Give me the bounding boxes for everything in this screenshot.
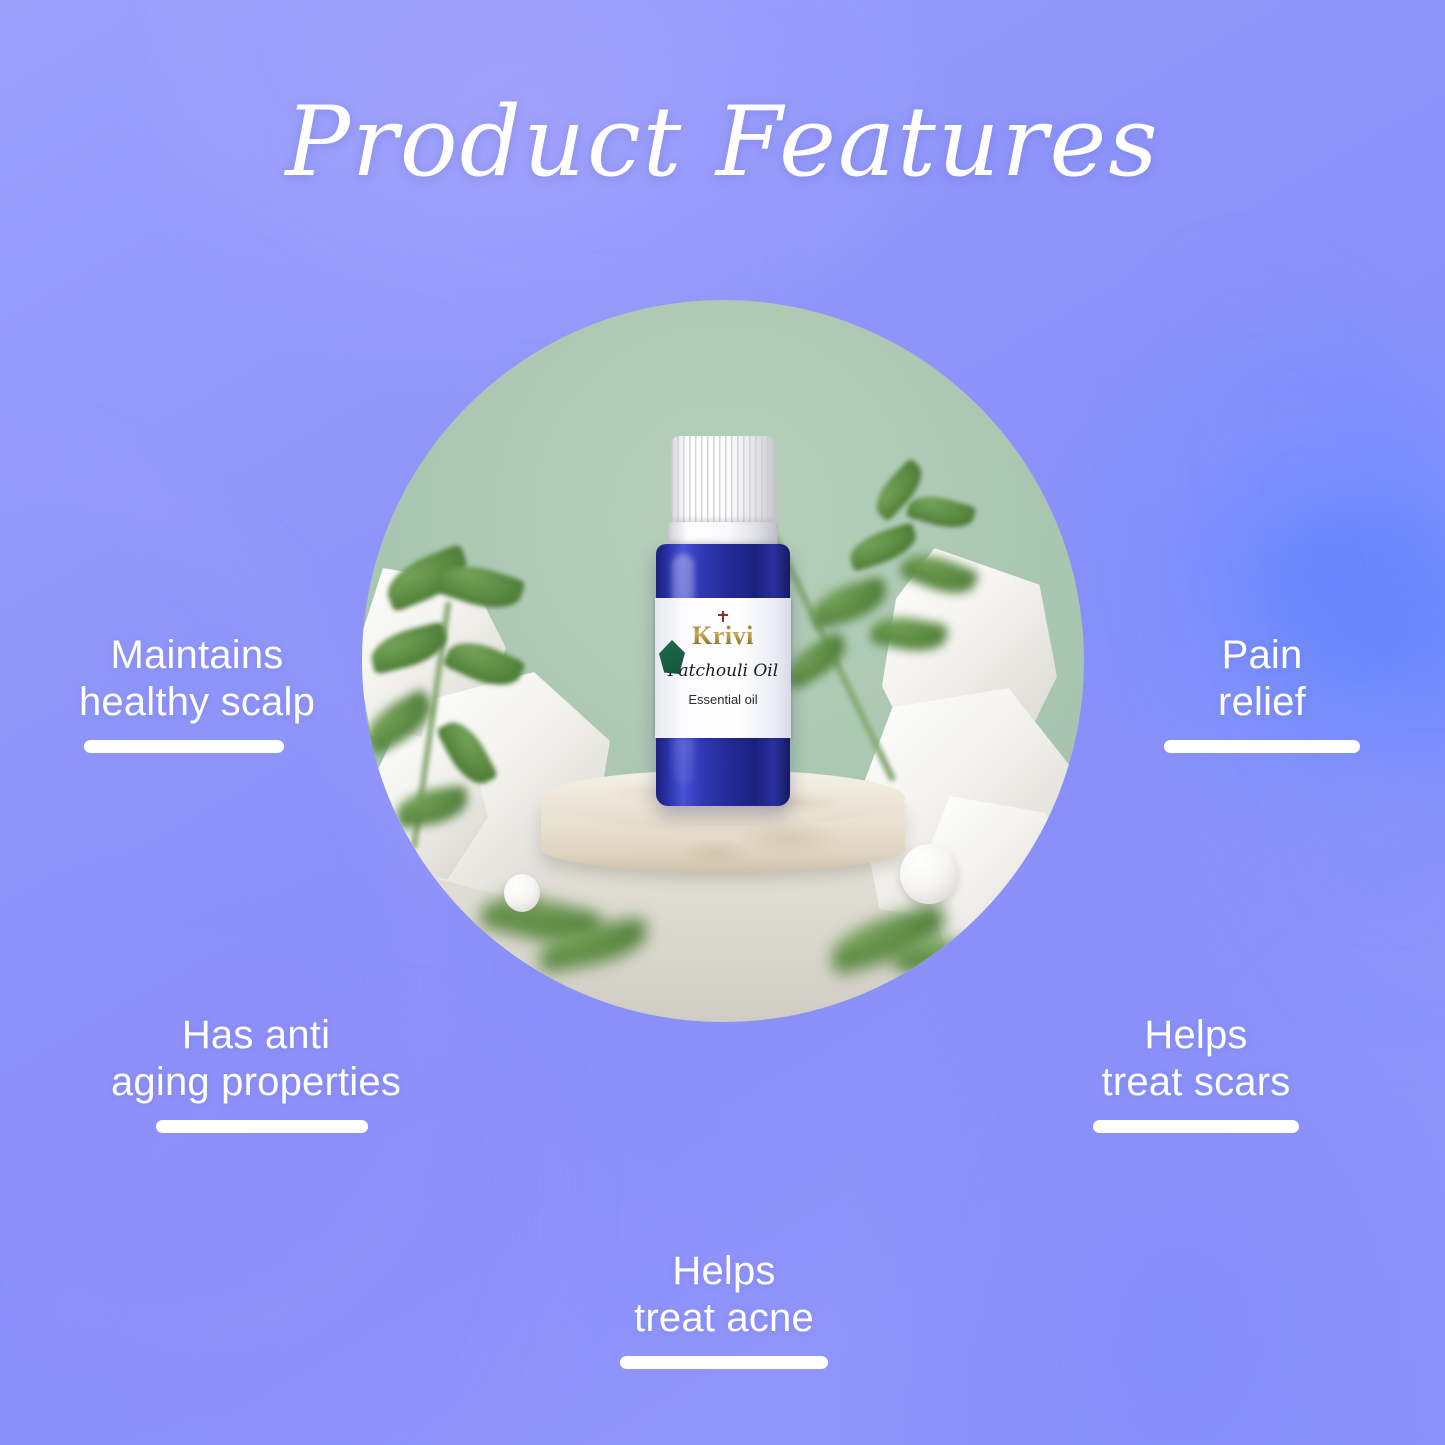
feature-label: Helps treat scars: [1086, 1012, 1306, 1106]
product-image-circle: Krivi Patchouli Oil Essential oil: [362, 300, 1084, 1022]
product-features-poster: Product Features: [0, 0, 1445, 1445]
feature-underline: [84, 740, 284, 753]
feature-helps-treat-scars[interactable]: Helps treat scars: [1086, 1012, 1306, 1133]
pebble-icon: [900, 844, 958, 904]
feature-label: Maintains healthy scalp: [62, 632, 332, 726]
feature-helps-treat-acne[interactable]: Helps treat acne: [612, 1248, 836, 1369]
essential-oil-bottle: Krivi Patchouli Oil Essential oil: [656, 436, 790, 806]
leaf-icon: [905, 489, 976, 534]
brand-ornament-icon: [716, 611, 730, 622]
bottle-tamper-ring-icon: [668, 522, 778, 544]
bottle-cap-icon: [671, 436, 775, 522]
bottle-label: Krivi Patchouli Oil Essential oil: [655, 598, 791, 738]
background-swirl-right-inner: [1181, 344, 1445, 918]
feature-underline: [620, 1356, 828, 1369]
feature-pain-relief[interactable]: Pain relief: [1164, 632, 1360, 753]
feature-underline: [1164, 740, 1360, 753]
feature-label: Helps treat acne: [612, 1248, 836, 1342]
feature-maintains-healthy-scalp[interactable]: Maintains healthy scalp: [62, 632, 332, 753]
pebble-icon: [504, 874, 540, 912]
bottle-body: Krivi Patchouli Oil Essential oil: [656, 544, 790, 806]
feature-label: Has anti aging properties: [86, 1012, 426, 1106]
page-title: Product Features: [0, 92, 1445, 193]
feature-underline: [156, 1120, 368, 1133]
feature-underline: [1093, 1120, 1299, 1133]
feature-label: Pain relief: [1164, 632, 1360, 726]
feature-has-anti-aging[interactable]: Has anti aging properties: [86, 1012, 426, 1133]
product-subtitle: Essential oil: [655, 693, 791, 706]
